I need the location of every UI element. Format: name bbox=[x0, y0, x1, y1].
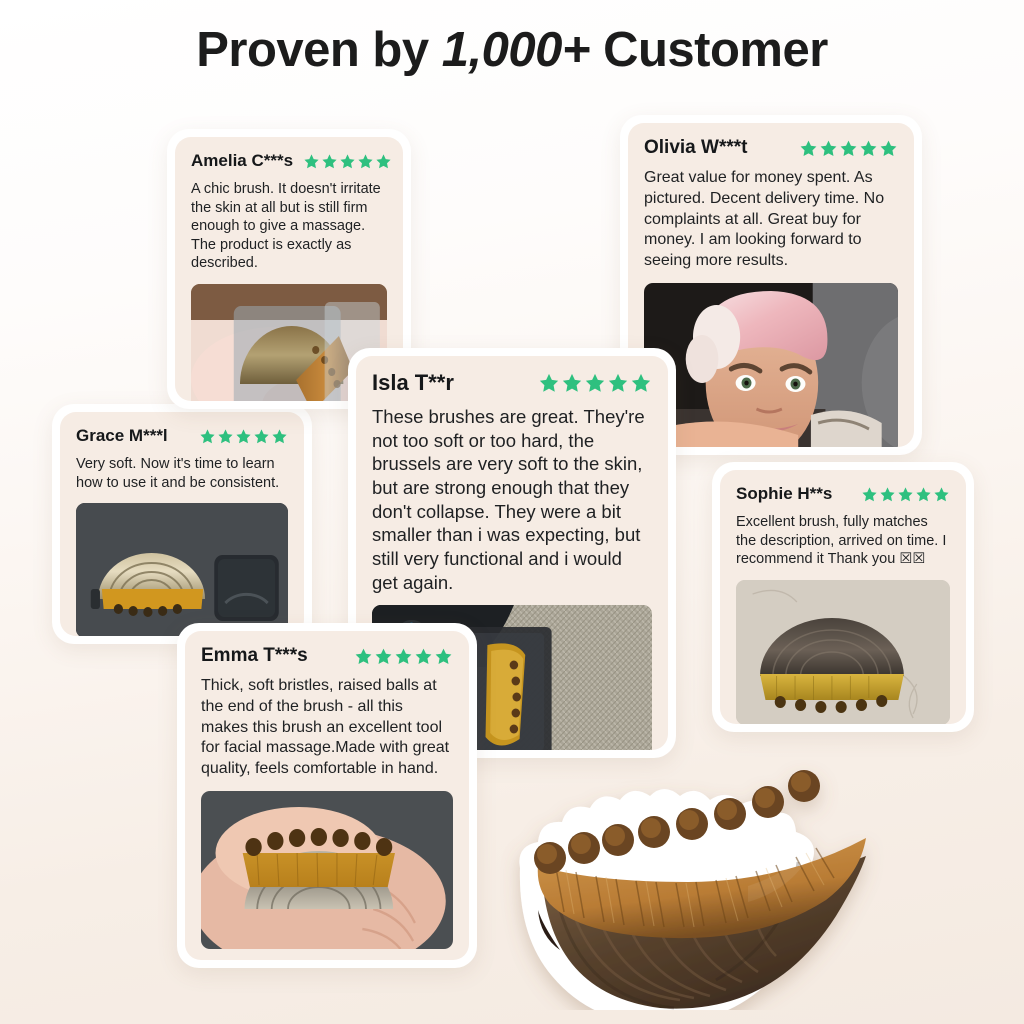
page-title-suffix: Customer bbox=[590, 23, 828, 77]
review-header: Grace M***l bbox=[76, 426, 288, 446]
review-header: Isla T**r bbox=[372, 370, 652, 396]
review-card-grace[interactable]: Grace M***l Very soft. Now it's time to … bbox=[52, 404, 312, 644]
review-text: These brushes are great. They're not too… bbox=[372, 405, 652, 594]
reviewer-name: Emma T***s bbox=[201, 645, 308, 667]
reviewer-name: Olivia W***t bbox=[644, 137, 747, 159]
page-title-prefix: Proven by bbox=[196, 23, 442, 77]
review-header: Olivia W***t bbox=[644, 137, 898, 159]
page-title-emphasis: 1,000+ bbox=[442, 23, 590, 77]
rating-stars bbox=[799, 139, 898, 158]
rating-stars bbox=[538, 372, 652, 394]
review-header: Amelia C***s bbox=[191, 151, 387, 171]
review-card-body: Grace M***l Very soft. Now it's time to … bbox=[60, 412, 304, 636]
review-card-emma[interactable]: Emma T***s Thick, soft bristles, raised … bbox=[177, 623, 477, 968]
review-text: Great value for money spent. As pictured… bbox=[644, 168, 898, 272]
review-text: A chic brush. It doesn't irritate the sk… bbox=[191, 180, 387, 273]
review-card-body: Emma T***s Thick, soft bristles, raised … bbox=[185, 631, 469, 960]
review-photo-brush-in-palm bbox=[201, 791, 453, 949]
review-text: Very soft. Now it's time to learn how to… bbox=[76, 455, 288, 492]
hero-product-image bbox=[498, 680, 918, 1010]
review-header: Emma T***s bbox=[201, 645, 453, 667]
rating-stars bbox=[303, 153, 392, 170]
rating-stars bbox=[199, 428, 288, 445]
reviewer-name: Grace M***l bbox=[76, 426, 168, 446]
review-photo-customer-selfie bbox=[644, 283, 898, 447]
review-text: Thick, soft bristles, raised balls at th… bbox=[201, 676, 453, 780]
rating-stars bbox=[861, 486, 950, 503]
page-title: Proven by 1,000+ Customer bbox=[0, 22, 1024, 78]
review-text: Excellent brush, fully matches the descr… bbox=[736, 513, 950, 569]
rating-stars bbox=[354, 647, 453, 666]
review-photo-brush-with-case bbox=[76, 503, 288, 636]
reviewer-name: Sophie H**s bbox=[736, 484, 832, 504]
review-header: Sophie H**s bbox=[736, 484, 950, 504]
reviewer-name: Amelia C***s bbox=[191, 151, 293, 171]
reviewer-name: Isla T**r bbox=[372, 370, 454, 396]
